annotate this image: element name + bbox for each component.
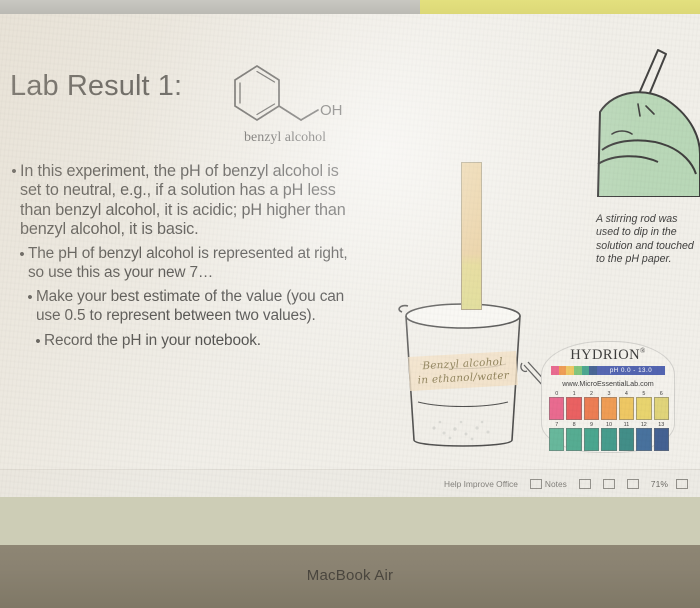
slide-sorter-button[interactable] <box>603 479 615 489</box>
hydrion-range-label: pH 0.0 - 13.0 <box>597 366 665 375</box>
fit-to-window-button[interactable] <box>676 479 688 489</box>
ph-swatch-4: 4 <box>619 391 634 420</box>
ph-swatch-color <box>654 397 669 420</box>
ph-swatch-color <box>549 397 564 420</box>
ph-swatch-8: 8 <box>566 422 581 451</box>
benzyl-alcohol-structure-icon: OH <box>215 52 350 142</box>
laptop-photo-scene: Lab Result 1: OH benzyl alcohol <box>0 0 700 608</box>
hydrion-ph-chart: HYDRION® pH 0.0 - 13.0 www.MicroEssentia… <box>541 341 675 453</box>
zoom-level-label[interactable]: 71% <box>651 479 668 489</box>
ph-swatch-color <box>619 397 634 420</box>
device-model-label: MacBook Air <box>0 567 700 584</box>
powerpoint-status-bar: Help Improve Office Notes 71% <box>0 469 700 497</box>
normal-view-button[interactable] <box>579 479 591 489</box>
beaker-handwritten-label: Benzyl alcohol in ethanol/water <box>408 351 518 391</box>
bullet-dot-icon: • <box>16 245 28 282</box>
hydrion-brand-label: HYDRION® <box>549 347 667 364</box>
reading-view-button[interactable] <box>627 479 639 489</box>
ph-swatch-5: 5 <box>636 391 651 420</box>
bullet-text: Record the pH in your notebook. <box>44 332 261 351</box>
ph-paper-strip <box>461 162 482 310</box>
ph-swatch-12: 12 <box>636 422 651 451</box>
notes-button[interactable]: Notes <box>530 479 567 489</box>
ph-swatch-color <box>601 428 616 451</box>
hydrion-swatch-row-acidic: 0123456 <box>549 391 669 420</box>
gloved-hand-illustration-icon <box>596 42 700 197</box>
ph-swatch-6: 6 <box>654 391 669 420</box>
hydrion-url: www.MicroEssentialLab.com <box>547 379 669 388</box>
bullet-dot-icon: • <box>24 288 36 325</box>
help-improve-office-link[interactable]: Help Improve Office <box>444 479 518 489</box>
notes-label: Notes <box>545 479 567 489</box>
bullet-text: The pH of benzyl alcohol is represented … <box>28 245 358 282</box>
list-item: • Record the pH in your notebook. <box>32 332 358 351</box>
ph-swatch-7: 7 <box>549 422 564 451</box>
ph-swatch-color <box>601 397 616 420</box>
stirring-rod-annotation: A stirring rod was used to dip in the so… <box>596 213 700 267</box>
ph-swatch-color <box>584 428 599 451</box>
ph-swatch-0: 0 <box>549 391 564 420</box>
bullet-dot-icon: • <box>8 162 20 239</box>
list-item: • Make your best estimate of the value (… <box>24 288 358 325</box>
notes-icon <box>530 479 542 489</box>
ph-swatch-9: 9 <box>584 422 599 451</box>
ph-swatch-color <box>584 397 599 420</box>
molecule-caption: benzyl alcohol <box>220 130 350 146</box>
ph-swatch-13: 13 <box>654 422 669 451</box>
fit-window-icon <box>676 479 688 489</box>
ph-swatch-color <box>654 428 669 451</box>
slide-sorter-icon <box>603 479 615 489</box>
ph-swatch-color <box>619 428 634 451</box>
ph-swatch-2: 2 <box>584 391 599 420</box>
hydrion-swatch-row-basic: 78910111213 <box>549 422 669 451</box>
hydrion-range-bar: pH 0.0 - 13.0 <box>551 366 665 375</box>
ph-swatch-color <box>549 428 564 451</box>
ph-swatch-color <box>636 397 651 420</box>
bullet-dot-icon: • <box>32 332 44 351</box>
ph-swatch-3: 3 <box>601 391 616 420</box>
hydrion-swatch-grid: 0123456 78910111213 <box>549 391 669 453</box>
bullet-text: Make your best estimate of the value (yo… <box>36 288 358 325</box>
page-title: Lab Result 1: <box>10 70 182 103</box>
hydrion-mini-swatches <box>551 366 597 375</box>
bullet-list: • In this experiment, the pH of benzyl a… <box>8 162 358 357</box>
hydrion-brand-text: HYDRION <box>570 347 640 363</box>
ph-swatch-1: 1 <box>566 391 581 420</box>
ph-swatch-color <box>566 428 581 451</box>
svg-text:OH: OH <box>320 102 343 119</box>
ph-swatch-color <box>636 428 651 451</box>
ph-swatch-color <box>566 397 581 420</box>
list-item: • The pH of benzyl alcohol is represente… <box>16 245 358 282</box>
reading-view-icon <box>627 479 639 489</box>
ph-swatch-11: 11 <box>619 422 634 451</box>
bullet-text: In this experiment, the pH of benzyl alc… <box>20 162 358 239</box>
normal-view-icon <box>579 479 591 489</box>
laptop-screen: Lab Result 1: OH benzyl alcohol <box>0 14 700 497</box>
ph-swatch-10: 10 <box>601 422 616 451</box>
powerpoint-slide: Lab Result 1: OH benzyl alcohol <box>0 14 700 469</box>
list-item: • In this experiment, the pH of benzyl a… <box>8 162 358 239</box>
